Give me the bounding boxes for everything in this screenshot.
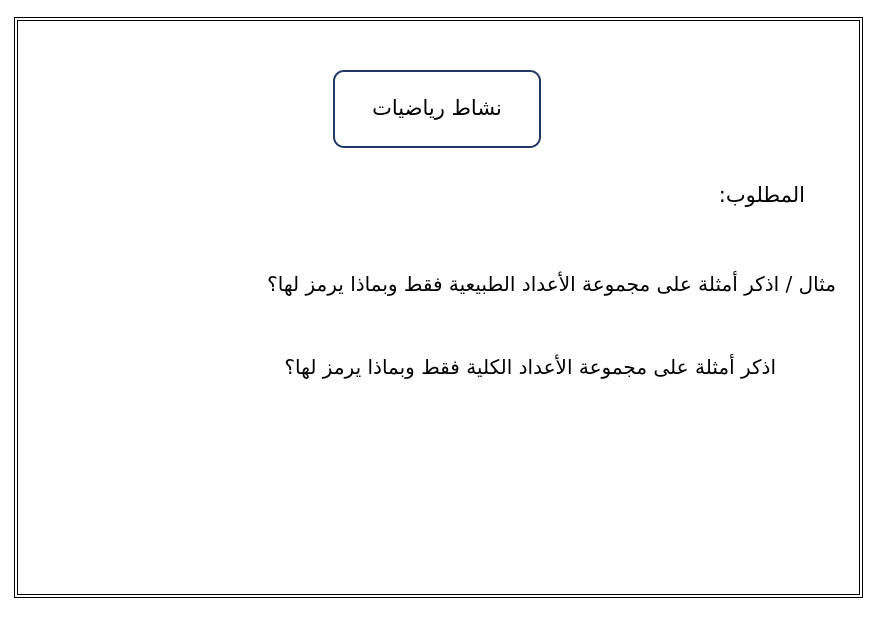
question-line-1: مثال / اذكر أمثلة على مجموعة الأعداد الط… (267, 271, 836, 298)
activity-title-box: نشاط رياضيات (333, 70, 541, 148)
page-inner-border: نشاط رياضيات المطلوب: مثال / اذكر أمثلة … (17, 20, 860, 595)
page-outer-border: نشاط رياضيات المطلوب: مثال / اذكر أمثلة … (14, 17, 863, 598)
question-line-2: اذكر أمثلة على مجموعة الأعداد الكلية فقط… (284, 354, 776, 381)
document-content: نشاط رياضيات المطلوب: مثال / اذكر أمثلة … (18, 21, 867, 602)
activity-title-label: نشاط رياضيات (372, 96, 502, 121)
required-heading: المطلوب: (719, 182, 805, 209)
